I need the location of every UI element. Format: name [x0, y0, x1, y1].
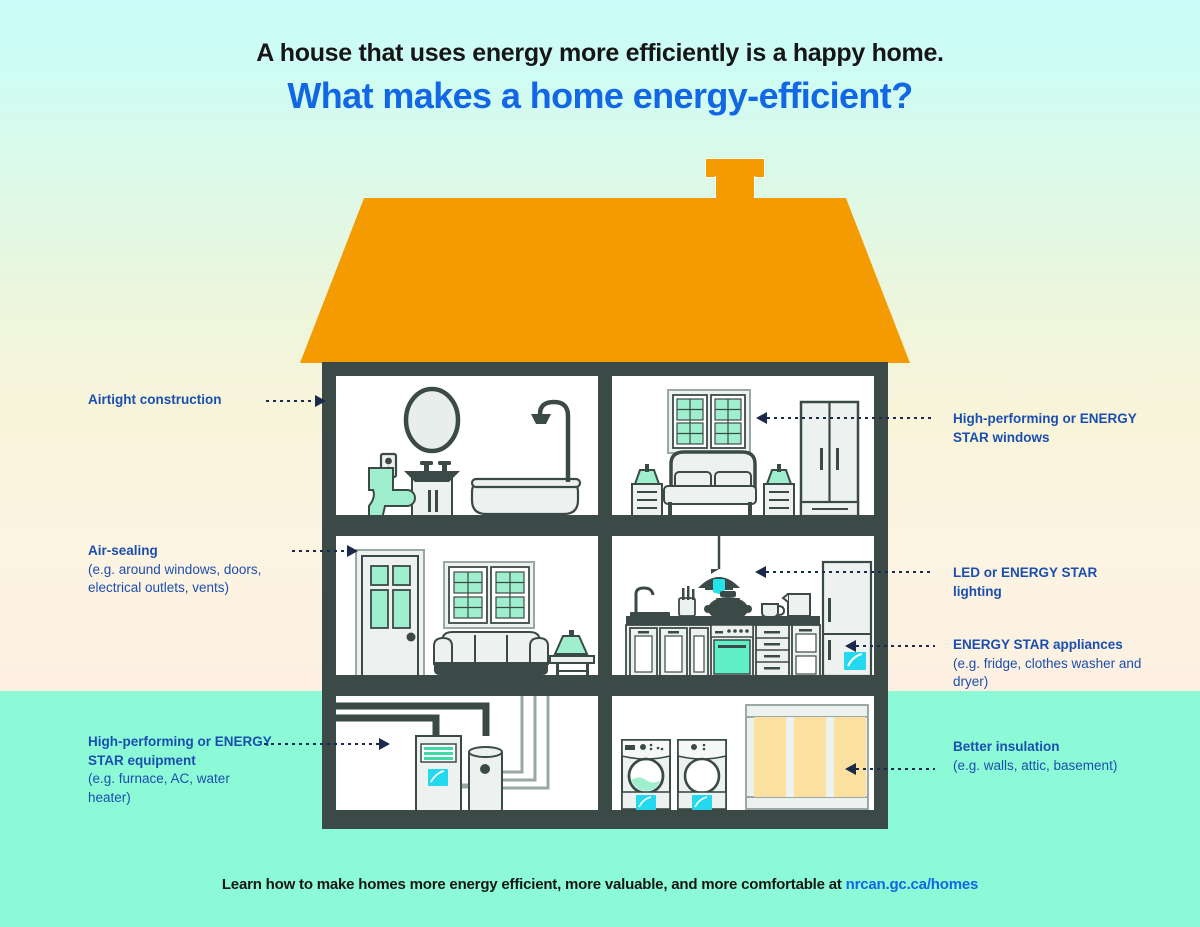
room-living [336, 536, 598, 680]
bedroom-floor [612, 515, 874, 520]
page-title: What makes a home energy-efficient? [0, 72, 1200, 120]
label-equipment-sub: (e.g. furnace, AC, water heater) [88, 770, 273, 807]
mechanical-floor [336, 810, 598, 815]
connector-insulation [845, 763, 935, 775]
footer-text: Learn how to make homes more energy effi… [222, 876, 846, 893]
label-windows: High-performing or ENERGY STAR windows [953, 410, 1153, 447]
dotted-line [767, 417, 932, 419]
infographic-canvas: A house that uses energy more efficientl… [0, 0, 1200, 927]
label-air-sealing-heading: Air-sealing [88, 542, 288, 561]
label-appliances: ENERGY STAR appliances (e.g. fridge, clo… [953, 636, 1153, 692]
dotted-line [266, 400, 315, 402]
label-insulation-sub: (e.g. walls, attic, basement) [953, 757, 1153, 776]
room-mechanical [336, 696, 598, 815]
title-block: A house that uses energy more efficientl… [0, 36, 1200, 120]
connector-equipment [264, 738, 390, 750]
connector-airtight [266, 395, 326, 407]
label-appliances-heading: ENERGY STAR appliances [953, 636, 1153, 655]
label-insulation: Better insulation (e.g. walls, attic, ba… [953, 738, 1153, 775]
arrow-left-icon [755, 566, 766, 578]
connector-air-sealing [292, 545, 358, 557]
label-lighting-heading: LED or ENERGY STAR lighting [953, 564, 1143, 601]
label-windows-heading: High-performing or ENERGY STAR windows [953, 410, 1153, 447]
connector-windows [756, 412, 932, 424]
label-equipment: High-performing or ENERGY STAR equipment… [88, 733, 273, 807]
arrow-left-icon [845, 640, 856, 652]
dotted-line [292, 550, 347, 552]
bathroom-floor [336, 515, 598, 520]
footer-url-link[interactable]: nrcan.gc.ca/homes [846, 876, 979, 893]
laundry-floor [612, 810, 874, 815]
connector-lighting [755, 566, 933, 578]
room-bedroom [612, 376, 874, 520]
label-equipment-heading: High-performing or ENERGY STAR equipment [88, 733, 273, 770]
dotted-line [264, 743, 379, 745]
living-room-floor [336, 675, 598, 680]
label-airtight-heading: Airtight construction [88, 391, 258, 410]
footer-cta: Learn how to make homes more energy effi… [0, 876, 1200, 893]
room-kitchen [612, 536, 874, 680]
label-lighting: LED or ENERGY STAR lighting [953, 564, 1143, 601]
dotted-line [856, 768, 935, 770]
dotted-line [856, 645, 935, 647]
roof [300, 198, 910, 363]
house-illustration [300, 150, 910, 840]
label-insulation-heading: Better insulation [953, 738, 1153, 757]
arrow-left-icon [756, 412, 767, 424]
label-airtight-construction: Airtight construction [88, 391, 258, 410]
dotted-line [766, 571, 933, 573]
page-subtitle: A house that uses energy more efficientl… [0, 36, 1200, 70]
arrow-right-icon [315, 395, 326, 407]
room-laundry [612, 696, 874, 815]
chimney-cap [705, 158, 765, 178]
room-bathroom [336, 376, 598, 520]
label-air-sealing-sub: (e.g. around windows, doors, electrical … [88, 561, 288, 598]
connector-appliances [845, 640, 935, 652]
label-appliances-sub: (e.g. fridge, clothes washer and dryer) [953, 655, 1153, 692]
kitchen-floor [612, 675, 874, 680]
arrow-right-icon [379, 738, 390, 750]
label-air-sealing: Air-sealing (e.g. around windows, doors,… [88, 542, 288, 598]
arrow-right-icon [347, 545, 358, 557]
arrow-left-icon [845, 763, 856, 775]
